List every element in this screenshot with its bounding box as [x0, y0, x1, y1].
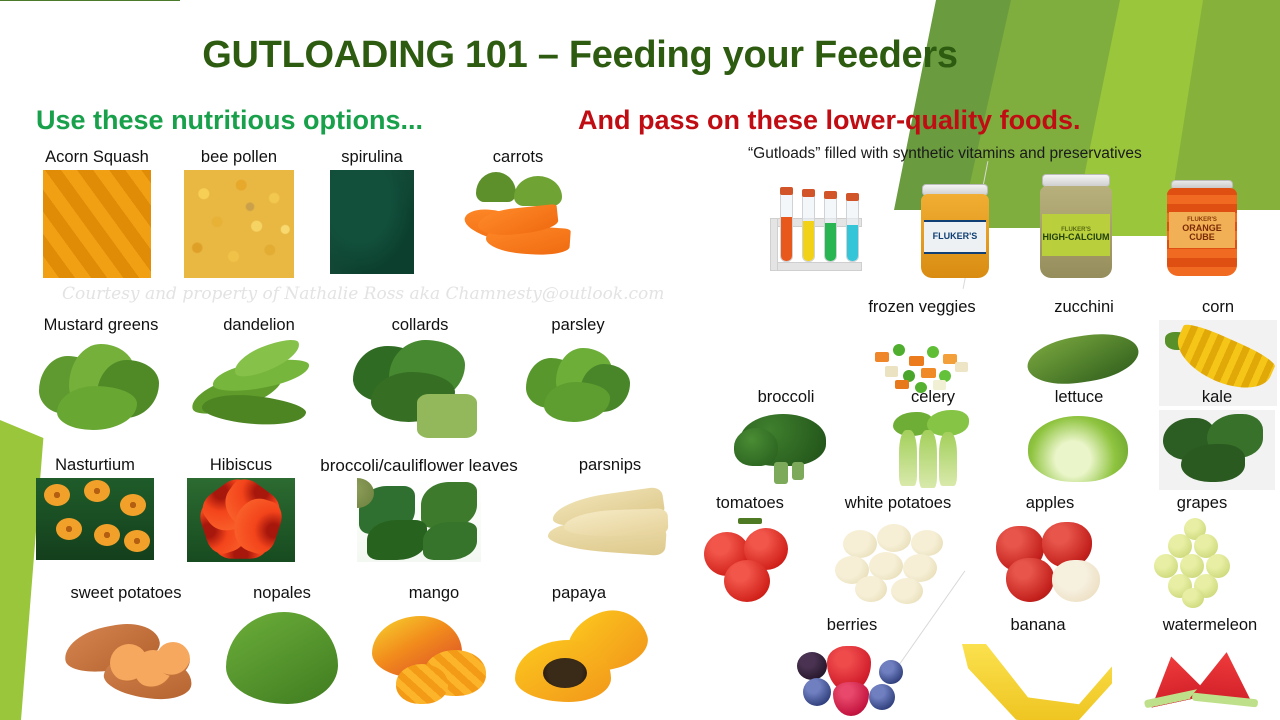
parsley-photo [518, 338, 638, 434]
item-label: kale [1202, 388, 1232, 407]
list-item: Nasturtium [28, 456, 162, 580]
item-label: papaya [552, 584, 606, 603]
item-label: parsnips [579, 456, 641, 475]
item-label: berries [827, 616, 877, 635]
list-item: broccoli/cauliflower leaves [300, 456, 538, 580]
item-label: parsley [551, 316, 604, 335]
papaya-photo [509, 606, 649, 714]
jar-brand-label: FLUKER'S [933, 232, 978, 241]
list-item: banana [974, 616, 1102, 720]
item-label: sweet potatoes [71, 584, 182, 603]
list-item: lettuce [1016, 388, 1142, 492]
list-item: watermeleon [1140, 616, 1280, 720]
jar-product-label: ORANGE CUBE [1169, 224, 1235, 243]
right-column-heading: And pass on these lower-quality foods. [578, 105, 1081, 136]
berries-photo [793, 638, 911, 716]
acorn-squash-photo [43, 170, 151, 278]
flukers-orange-cube-jar-photo: FLUKER'S ORANGE CUBE [1153, 178, 1251, 282]
carrots-photo [442, 170, 594, 280]
collards-photo [347, 338, 493, 446]
item-label: watermeleon [1163, 616, 1257, 635]
item-label: bee pollen [201, 148, 277, 167]
list-item: sweet potatoes [50, 584, 202, 720]
bee-pollen-photo [184, 170, 294, 278]
item-label: collards [392, 316, 449, 335]
list-item: bee pollen [176, 148, 302, 288]
poster-canvas: GUTLOADING 101 – Feeding your Feeders Us… [0, 0, 1280, 720]
nasturtium-photo [36, 478, 154, 560]
list-item: parsley [508, 316, 648, 446]
item-label: broccoli/cauliflower leaves [320, 456, 517, 476]
item-label: broccoli [758, 388, 815, 407]
grapes-photo [1138, 516, 1266, 608]
item-label: zucchini [1054, 298, 1114, 317]
list-item: broccoli [722, 388, 850, 492]
list-item: Acorn Squash [34, 148, 160, 288]
item-label: carrots [493, 148, 543, 167]
list-item: berries [790, 616, 914, 720]
item-label: corn [1202, 298, 1234, 317]
list-item: FLUKER'S ORANGE CUBE [1146, 178, 1258, 290]
bottom-right-rule [0, 0, 180, 1]
frozen-veggies-photo [859, 320, 985, 398]
spirulina-photo [330, 170, 414, 274]
item-label: spirulina [341, 148, 402, 167]
flukers-high-calcium-jar-photo: FLUKER'S HIGH-CALCIUM [1026, 170, 1126, 284]
list-item: parsnips [540, 456, 680, 580]
item-label: frozen veggies [868, 298, 975, 317]
sweet-potatoes-photo [58, 606, 194, 714]
item-label: Mustard greens [44, 316, 159, 335]
list-item: spirulina [312, 148, 432, 288]
list-item: carrots [438, 148, 598, 288]
item-label: banana [1010, 616, 1065, 635]
item-label: dandelion [223, 316, 295, 335]
list-item: collards [340, 316, 500, 446]
list-item: Mustard greens [26, 316, 176, 446]
list-item: FLUKER'S [902, 176, 1008, 288]
list-item [748, 176, 880, 288]
list-item: apples [986, 494, 1114, 610]
banana-photo [958, 638, 1118, 720]
list-item: FLUKER'S HIGH-CALCIUM [1020, 170, 1132, 288]
item-label: mango [409, 584, 459, 603]
tomatoes-photo [694, 516, 806, 604]
list-item: tomatoes [688, 494, 812, 610]
mustard-greens-photo [35, 338, 167, 438]
page-title: GUTLOADING 101 – Feeding your Feeders [0, 34, 1160, 77]
item-label: grapes [1177, 494, 1227, 513]
jar-product-label: HIGH-CALCIUM [1043, 233, 1110, 242]
item-label: apples [1026, 494, 1075, 513]
left-column-heading: Use these nutritious options... [36, 105, 423, 136]
lettuce-photo [1022, 410, 1136, 488]
item-label: Hibiscus [210, 456, 272, 475]
broccoli-photo [730, 410, 842, 488]
list-item: dandelion [182, 316, 336, 446]
list-item: white potatoes [824, 494, 972, 610]
list-item: mango [364, 584, 504, 720]
list-item: Hibiscus [176, 456, 306, 580]
item-label: tomatoes [716, 494, 784, 513]
list-item: kale [1156, 388, 1278, 492]
celery-photo [871, 410, 995, 490]
kale-photo [1159, 410, 1275, 490]
test-tube-rack-photo [752, 176, 876, 282]
item-label: Nasturtium [55, 456, 135, 475]
mango-photo [368, 606, 500, 712]
gutloads-note: “Gutloads” filled with synthetic vitamin… [748, 145, 1142, 163]
broccoli-leaves-photo [357, 478, 481, 562]
flukers-cricket-jar-photo: FLUKER'S [907, 176, 1003, 284]
item-label: lettuce [1055, 388, 1104, 407]
white-potatoes-photo [829, 516, 967, 604]
left-edge-green-accent [0, 430, 14, 600]
list-item: grapes [1134, 494, 1270, 610]
parsnips-photo [546, 478, 674, 570]
nopales-photo [220, 606, 344, 710]
dandelion-greens-photo [184, 338, 334, 442]
list-item: celery [866, 388, 1000, 492]
list-item: nopales [216, 584, 348, 720]
item-label: Acorn Squash [45, 148, 149, 167]
item-label: nopales [253, 584, 311, 603]
watermelon-photo [1142, 638, 1278, 718]
list-item: papaya [506, 584, 652, 720]
item-label: white potatoes [845, 494, 951, 513]
hibiscus-photo [187, 478, 295, 562]
apples-photo [990, 516, 1110, 604]
item-label: celery [911, 388, 955, 407]
